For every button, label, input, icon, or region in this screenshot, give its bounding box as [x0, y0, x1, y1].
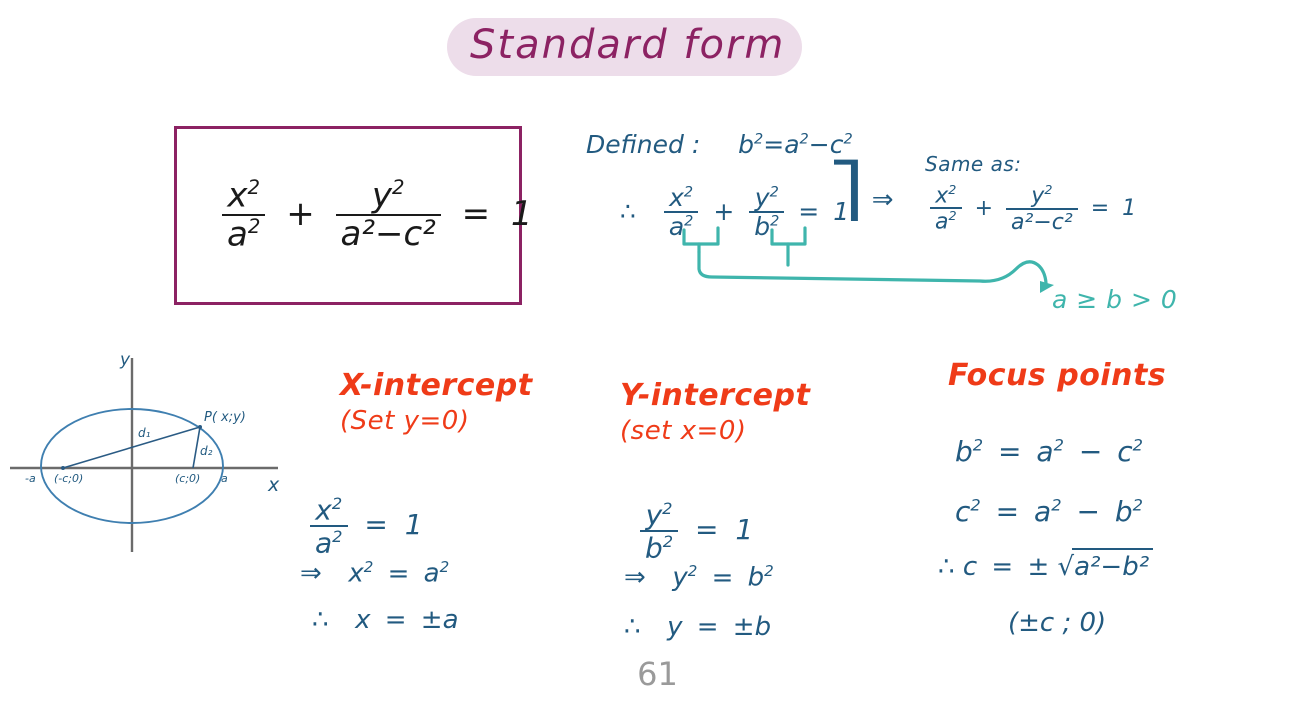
- fraction-x-over-a: x2 a2: [310, 495, 348, 557]
- variable-x: x: [355, 605, 370, 635]
- therefore-symbol: ∴: [312, 605, 329, 635]
- right-vertex-label: a: [221, 472, 228, 485]
- equals-sign: =: [356, 508, 395, 541]
- therefore-symbol: ∴: [620, 197, 636, 226]
- x-intercept-step-3: ∴ x = ±a: [312, 605, 459, 635]
- fraction-x-over-a: x2 a2: [222, 178, 265, 253]
- y-intercept-step-3: ∴ y = ±b: [624, 612, 771, 642]
- variable-c: c: [963, 552, 977, 582]
- implies-symbol: ⇒: [872, 185, 894, 215]
- variable-a: a: [1036, 435, 1053, 468]
- x-intercept-step-1: x2 a2 = 1: [310, 495, 423, 557]
- y-axis-label: y: [120, 350, 130, 370]
- ellipse-diagram: y x -a (-c;0) (c;0) a P( x;y) d₁ d₂: [10, 348, 305, 610]
- radicand: a²−b²: [1072, 548, 1153, 582]
- square-root: √a²−b²: [1058, 548, 1154, 582]
- therefore-symbol: ∴: [938, 552, 955, 582]
- equals-sign: =: [990, 495, 1025, 528]
- equation-result: 1: [405, 508, 423, 541]
- y-intercept-heading: Y-intercept: [620, 378, 810, 413]
- equals-sign: =: [992, 435, 1027, 468]
- variable-b: b: [1115, 495, 1133, 528]
- y-intercept-step-2: ⇒ y2 = b2: [624, 562, 774, 593]
- same-as-label: Same as:: [925, 152, 1022, 176]
- equals-sign: =: [379, 605, 413, 635]
- plus-minus-symbol: ±: [733, 612, 755, 642]
- variable-a: a: [424, 559, 440, 589]
- variable-b: b: [955, 435, 973, 468]
- slide-page: Standard form x2 a2 + y2 a²−c² = 1 Defin…: [0, 0, 1315, 709]
- focus-points-coordinates: (±c ; 0): [1008, 608, 1106, 638]
- fraction-numerator: x2: [664, 185, 699, 211]
- left-focus-point: [61, 466, 65, 470]
- bracket-implication: ⎤ ⇒: [833, 172, 894, 218]
- distance-d1-label: d₁: [138, 426, 150, 440]
- y-intercept-subheading: (set x=0): [620, 416, 747, 446]
- minus-operator: −: [1070, 495, 1105, 528]
- equals-sign: =: [792, 197, 825, 226]
- distance-d2-label: d₂: [200, 444, 212, 458]
- fraction-numerator: x2: [930, 184, 962, 207]
- variable-c: c: [1117, 435, 1132, 468]
- equals-sign: =: [706, 563, 740, 593]
- plus-minus-symbol: ±: [421, 605, 443, 635]
- x-intercept-step-2: ⇒ x2 = a2: [300, 558, 449, 589]
- fraction-y-over-a2-minus-c2: y2 a²−c²: [336, 178, 441, 253]
- fraction-denominator: a2: [222, 214, 265, 253]
- point-p-label: P( x;y): [204, 410, 246, 425]
- plus-minus-symbol: ±: [1027, 552, 1049, 582]
- equals-sign: =: [985, 552, 1019, 582]
- defined-line: Defined : b2=a2−c2: [586, 130, 853, 159]
- fraction-numerator: x2: [222, 178, 265, 214]
- fraction-numerator: x2: [310, 495, 348, 525]
- fraction-denominator: b2: [640, 530, 678, 563]
- therefore-symbol: ∴: [624, 612, 641, 642]
- fraction-numerator: y2: [640, 500, 678, 530]
- variable-y: y: [672, 563, 687, 593]
- focus-points-step-2: c2 = a2 − b2: [955, 495, 1143, 528]
- fraction-numerator: y2: [749, 185, 784, 211]
- variable-c: c: [955, 495, 970, 528]
- equals-sign: =: [382, 559, 416, 589]
- plus-operator: +: [969, 196, 999, 221]
- boxed-formula-equation: x2 a2 + y2 a²−c² = 1: [222, 178, 533, 253]
- equation-result: 1: [1122, 196, 1136, 221]
- fraction-denominator: a2: [310, 525, 348, 558]
- defined-label: Defined :: [586, 130, 700, 159]
- variable-a: a: [1034, 495, 1051, 528]
- variable-x: x: [348, 559, 363, 589]
- variable-b: b: [748, 563, 765, 593]
- point-p-marker: [198, 425, 202, 429]
- plus-operator: +: [276, 194, 325, 234]
- variable-y: y: [667, 612, 682, 642]
- focus-points-step-1: b2 = a2 − c2: [955, 435, 1143, 468]
- left-focus-label: (-c;0): [54, 472, 83, 485]
- variable-b: b: [755, 612, 772, 642]
- x-intercept-subheading: (Set y=0): [340, 406, 469, 436]
- page-number: 61: [0, 655, 1315, 693]
- equals-sign: =: [691, 612, 725, 642]
- x-axis-label: x: [268, 474, 279, 496]
- teal-brace-connector: [650, 225, 1070, 320]
- equals-sign: =: [452, 194, 501, 234]
- fraction-numerator: y2: [1006, 184, 1078, 207]
- fraction-y-over-b: y2 b2: [640, 500, 678, 562]
- equation-result: 1: [735, 513, 753, 546]
- plus-operator: +: [706, 197, 741, 226]
- page-title: Standard form: [470, 22, 785, 68]
- bracket-symbol: ⎤: [828, 176, 864, 207]
- defined-equation: b2=a2−c2: [738, 130, 853, 159]
- left-vertex-label: -a: [25, 472, 36, 485]
- inequality-note: a ≥ b > 0: [1052, 285, 1177, 314]
- x-intercept-heading: X-intercept: [340, 368, 533, 403]
- implies-symbol: ⇒: [624, 563, 646, 593]
- y-intercept-step-1: y2 b2 = 1: [640, 500, 753, 562]
- focus-points-step-3: ∴ c = ± √a²−b²: [938, 548, 1153, 582]
- right-focus-label: (c;0): [175, 472, 200, 485]
- formula-result: 1: [511, 194, 533, 234]
- focus-points-heading: Focus points: [948, 358, 1166, 393]
- fraction-denominator: a²−c²: [336, 214, 441, 253]
- distance-d2-segment: [193, 427, 200, 468]
- minus-operator: −: [1073, 435, 1108, 468]
- equals-sign: =: [1085, 196, 1115, 221]
- equals-sign: =: [687, 513, 726, 546]
- variable-a: a: [443, 605, 459, 635]
- fraction-numerator: y2: [336, 178, 441, 214]
